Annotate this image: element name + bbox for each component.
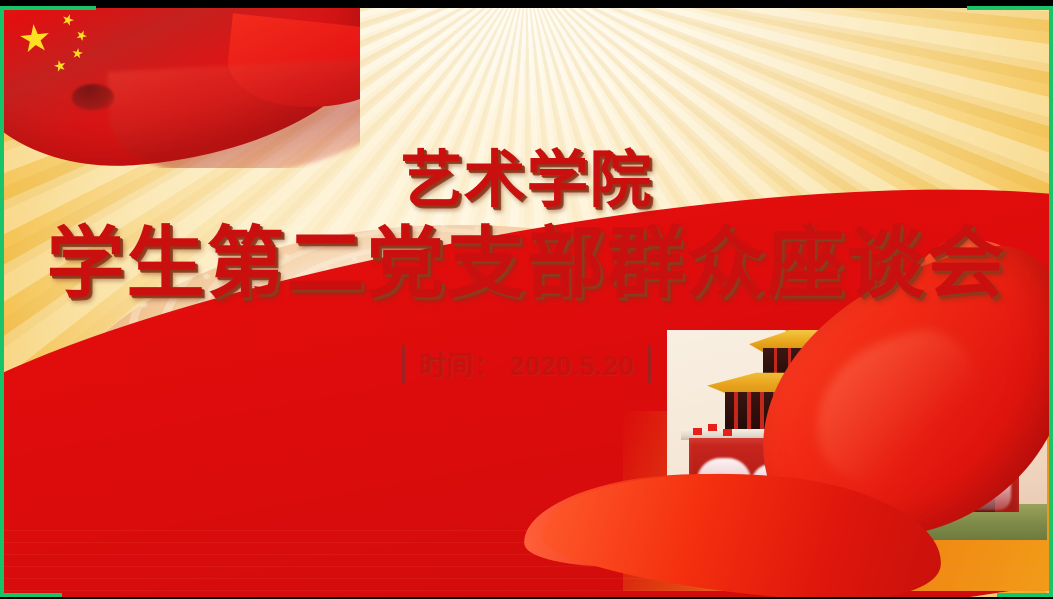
page-title-line-2: 学生第二党支部群众座谈会 xyxy=(0,224,1053,302)
fountain-right-2 xyxy=(955,448,1011,510)
frame-right-green-border xyxy=(1049,8,1053,593)
frame-left-green-border xyxy=(0,8,4,593)
page-title-line-1: 艺术学院 xyxy=(0,150,1053,212)
side-flag-3 xyxy=(723,429,732,436)
presentation-slide: 中华人民共和国万岁 艺术学院 学生第二党支部群众座谈会 时间： 2020.5.2… xyxy=(0,0,1053,599)
frame-top-left-green-accent xyxy=(0,6,96,10)
fountain-left-1 xyxy=(697,458,751,510)
chinese-national-flag xyxy=(0,8,360,168)
frame-bottom-left-green-accent xyxy=(0,593,62,597)
side-flag-1 xyxy=(693,428,702,435)
fountain-left-2 xyxy=(751,464,797,510)
event-date-row: 时间： 2020.5.20 xyxy=(0,344,1053,383)
date-divider-left xyxy=(402,345,405,383)
tiananmen-arch-center xyxy=(849,480,879,512)
frame-top-black-bar xyxy=(0,0,1053,8)
date-divider-right xyxy=(648,345,651,383)
frame-bottom-right-green-accent xyxy=(997,593,1053,597)
event-date-text: 时间： 2020.5.20 xyxy=(419,344,634,383)
side-flag-2 xyxy=(708,424,717,431)
tiananmen-side-flags xyxy=(693,424,739,444)
flag-notch-shadow xyxy=(72,84,114,110)
slide-title-block: 艺术学院 学生第二党支部群众座谈会 xyxy=(0,150,1053,302)
fountain-right-1 xyxy=(899,444,959,510)
frame-top-right-green-accent xyxy=(967,6,1053,10)
